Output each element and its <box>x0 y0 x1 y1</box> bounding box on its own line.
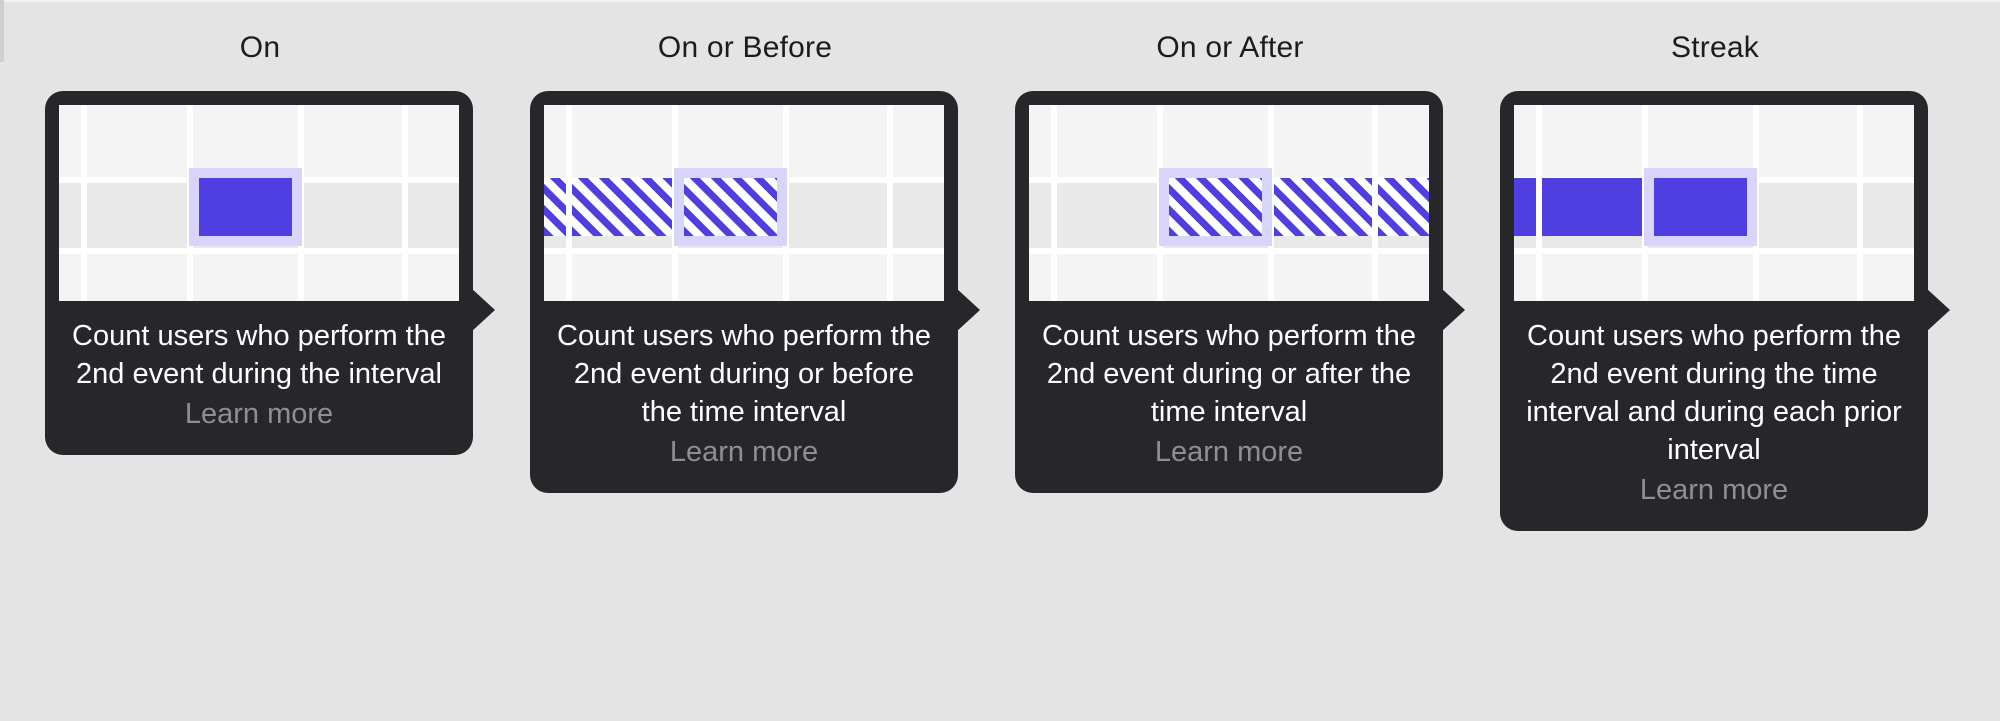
card-description-on-or-after: Count users who perform the 2nd event du… <box>1039 317 1419 431</box>
tooltip-pointer-icon <box>1441 288 1465 332</box>
grid-cell <box>1057 254 1157 301</box>
grid-cell <box>304 105 402 177</box>
grid-cell <box>193 105 298 177</box>
grid-cell <box>1514 105 1536 177</box>
grid-cell <box>1759 183 1857 248</box>
grid-cell <box>1378 105 1429 177</box>
card-description-on: Count users who perform the 2nd event du… <box>69 317 449 393</box>
grid-cell <box>87 105 187 177</box>
learn-more-link-on[interactable]: Learn more <box>59 395 459 433</box>
grid-cell <box>87 183 187 248</box>
grid-cell <box>1057 183 1157 248</box>
grid-cell <box>1759 254 1857 301</box>
grid-cell <box>1163 254 1268 301</box>
tooltip-card-on-or-before: Count users who perform the 2nd event du… <box>530 91 958 493</box>
option-column-streak: Streak <box>1500 0 1930 531</box>
later-interval-hatch <box>1378 178 1429 236</box>
column-title-on-or-before: On or Before <box>530 28 960 68</box>
selected-interval-hatch <box>1169 178 1262 236</box>
grid-cell <box>678 105 783 177</box>
card-description-streak: Count users who perform the 2nd event du… <box>1524 317 1904 469</box>
grid-cell <box>1029 105 1051 177</box>
grid-cell <box>1542 105 1642 177</box>
grid-cell <box>1648 105 1753 177</box>
prior-interval-block <box>1542 178 1642 236</box>
grid-cell <box>1163 105 1268 177</box>
grid-cell <box>544 254 566 301</box>
grid-cell <box>893 254 944 301</box>
prior-interval-hatch <box>544 178 566 236</box>
grid-cell <box>893 183 944 248</box>
learn-more-link-streak[interactable]: Learn more <box>1514 471 1914 509</box>
left-edge-rule <box>0 0 4 62</box>
grid-cell <box>1514 254 1536 301</box>
grid-cell <box>678 254 783 301</box>
prior-interval-hatch <box>572 178 672 236</box>
grid-cell <box>59 183 81 248</box>
column-title-on-or-after: On or After <box>1015 28 1445 68</box>
tooltip-card-streak: Count users who perform the 2nd event du… <box>1500 91 1928 531</box>
tooltip-pointer-icon <box>1926 288 1950 332</box>
grid-cell <box>408 183 459 248</box>
grid-cell <box>1378 254 1429 301</box>
grid-cell <box>1863 105 1914 177</box>
selected-interval-block <box>199 178 292 236</box>
grid-cell <box>789 105 887 177</box>
tooltip-pointer-icon <box>471 288 495 332</box>
grid-cell <box>544 105 566 177</box>
learn-more-link-on-or-before[interactable]: Learn more <box>544 433 944 471</box>
grid-cell <box>1029 183 1051 248</box>
grid-cell <box>1863 254 1914 301</box>
column-title-streak: Streak <box>1500 28 1930 68</box>
grid-graphic-on <box>59 105 459 301</box>
prior-interval-block <box>1514 178 1536 236</box>
grid-cell <box>87 254 187 301</box>
grid-cell <box>1648 254 1753 301</box>
grid-cell <box>1274 105 1372 177</box>
grid-cell <box>304 183 402 248</box>
grid-cell <box>789 183 887 248</box>
option-column-on-or-after: On or After <box>1015 0 1445 493</box>
card-description-on-or-before: Count users who perform the 2nd event du… <box>554 317 934 431</box>
grid-cell <box>408 254 459 301</box>
grid-graphic-on-or-before <box>544 105 944 301</box>
learn-more-link-on-or-after[interactable]: Learn more <box>1029 433 1429 471</box>
grid-cell <box>1863 183 1914 248</box>
option-column-on-or-before: On or Before <box>530 0 960 493</box>
grid-cell <box>408 105 459 177</box>
grid-cell <box>789 254 887 301</box>
grid-cell <box>304 254 402 301</box>
grid-cell <box>193 254 298 301</box>
grid-cell <box>893 105 944 177</box>
grid-cell <box>1029 254 1051 301</box>
timing-options-board: On <box>0 0 2000 721</box>
selected-interval-block <box>1654 178 1747 236</box>
grid-cell <box>59 105 81 177</box>
column-title-on: On <box>45 28 475 68</box>
grid-graphic-on-or-after <box>1029 105 1429 301</box>
grid-graphic-streak <box>1514 105 1914 301</box>
later-interval-hatch <box>1274 178 1372 236</box>
grid-cell <box>59 254 81 301</box>
option-column-on: On <box>45 0 475 455</box>
grid-cell <box>572 254 672 301</box>
selected-interval-hatch <box>684 178 777 236</box>
grid-cell <box>1759 105 1857 177</box>
grid-cell <box>1274 254 1372 301</box>
tooltip-pointer-icon <box>956 288 980 332</box>
grid-cell <box>1057 105 1157 177</box>
grid-cell <box>1542 254 1642 301</box>
tooltip-card-on: Count users who perform the 2nd event du… <box>45 91 473 455</box>
tooltip-card-on-or-after: Count users who perform the 2nd event du… <box>1015 91 1443 493</box>
grid-cell <box>572 105 672 177</box>
